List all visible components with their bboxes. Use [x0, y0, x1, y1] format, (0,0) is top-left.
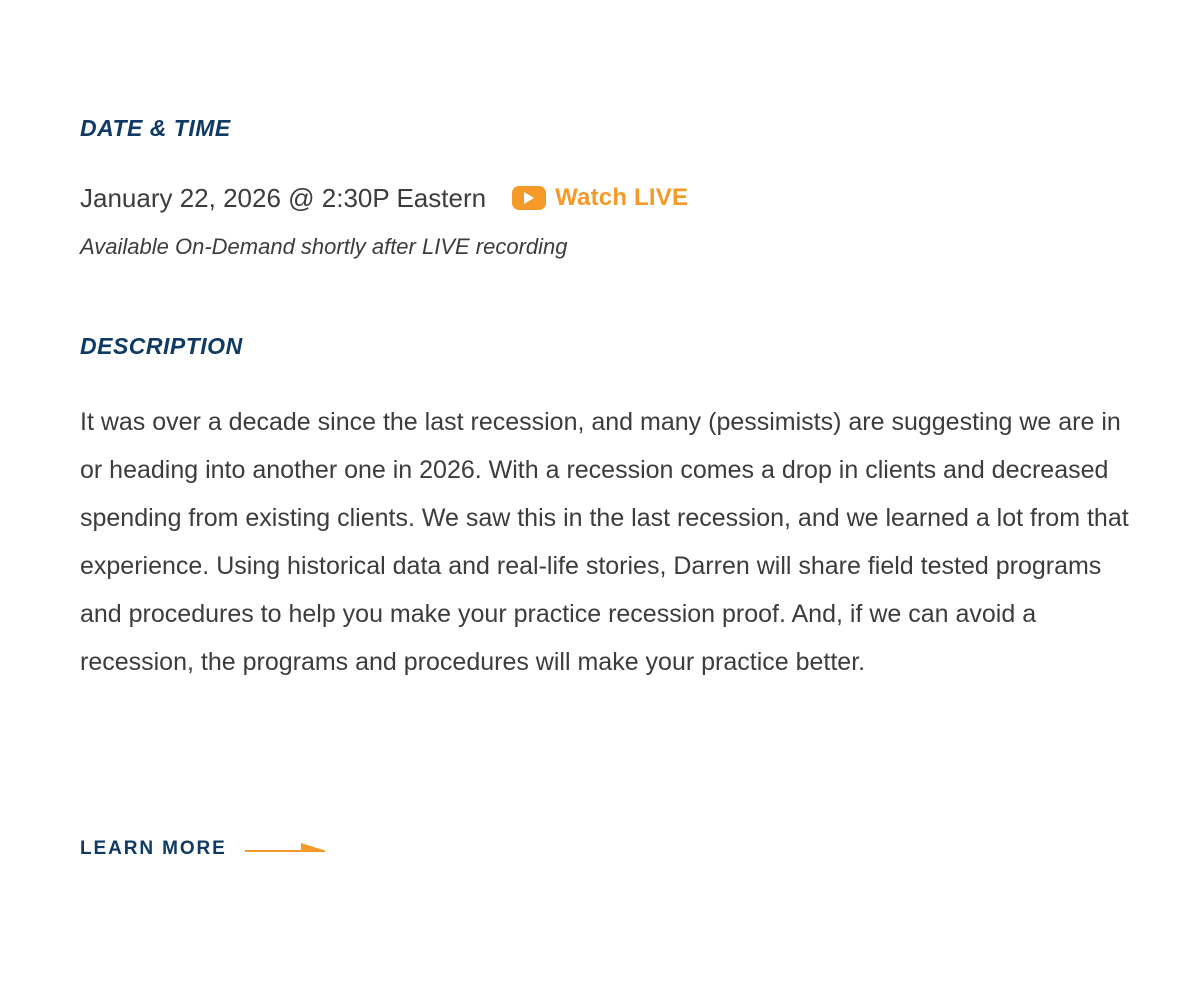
watch-live-button[interactable]: Watch LIVE [512, 186, 688, 210]
description-section: DESCRIPTION It was over a decade since t… [80, 335, 1130, 711]
description-heading: DESCRIPTION [80, 335, 1130, 358]
event-detail-page: DATE & TIME January 22, 2026 @ 2:30P Eas… [0, 0, 1200, 996]
date-and-time-section: DATE & TIME January 22, 2026 @ 2:30P Eas… [80, 117, 688, 260]
date-and-time-heading: DATE & TIME [80, 117, 688, 140]
learn-more-label: LEARN MORE [80, 839, 227, 858]
youtube-play-icon [512, 186, 546, 210]
learn-more-link[interactable]: LEARN MORE [80, 839, 325, 858]
availability-note: Available On-Demand shortly after LIVE r… [80, 234, 688, 260]
watch-live-label: Watch LIVE [555, 186, 688, 210]
arrow-right-icon [245, 841, 325, 857]
event-datetime-text: January 22, 2026 @ 2:30P Eastern [80, 184, 486, 213]
date-and-time-row: January 22, 2026 @ 2:30P Eastern Watch L… [80, 184, 688, 213]
description-body-text: It was over a decade since the last rece… [80, 398, 1130, 686]
